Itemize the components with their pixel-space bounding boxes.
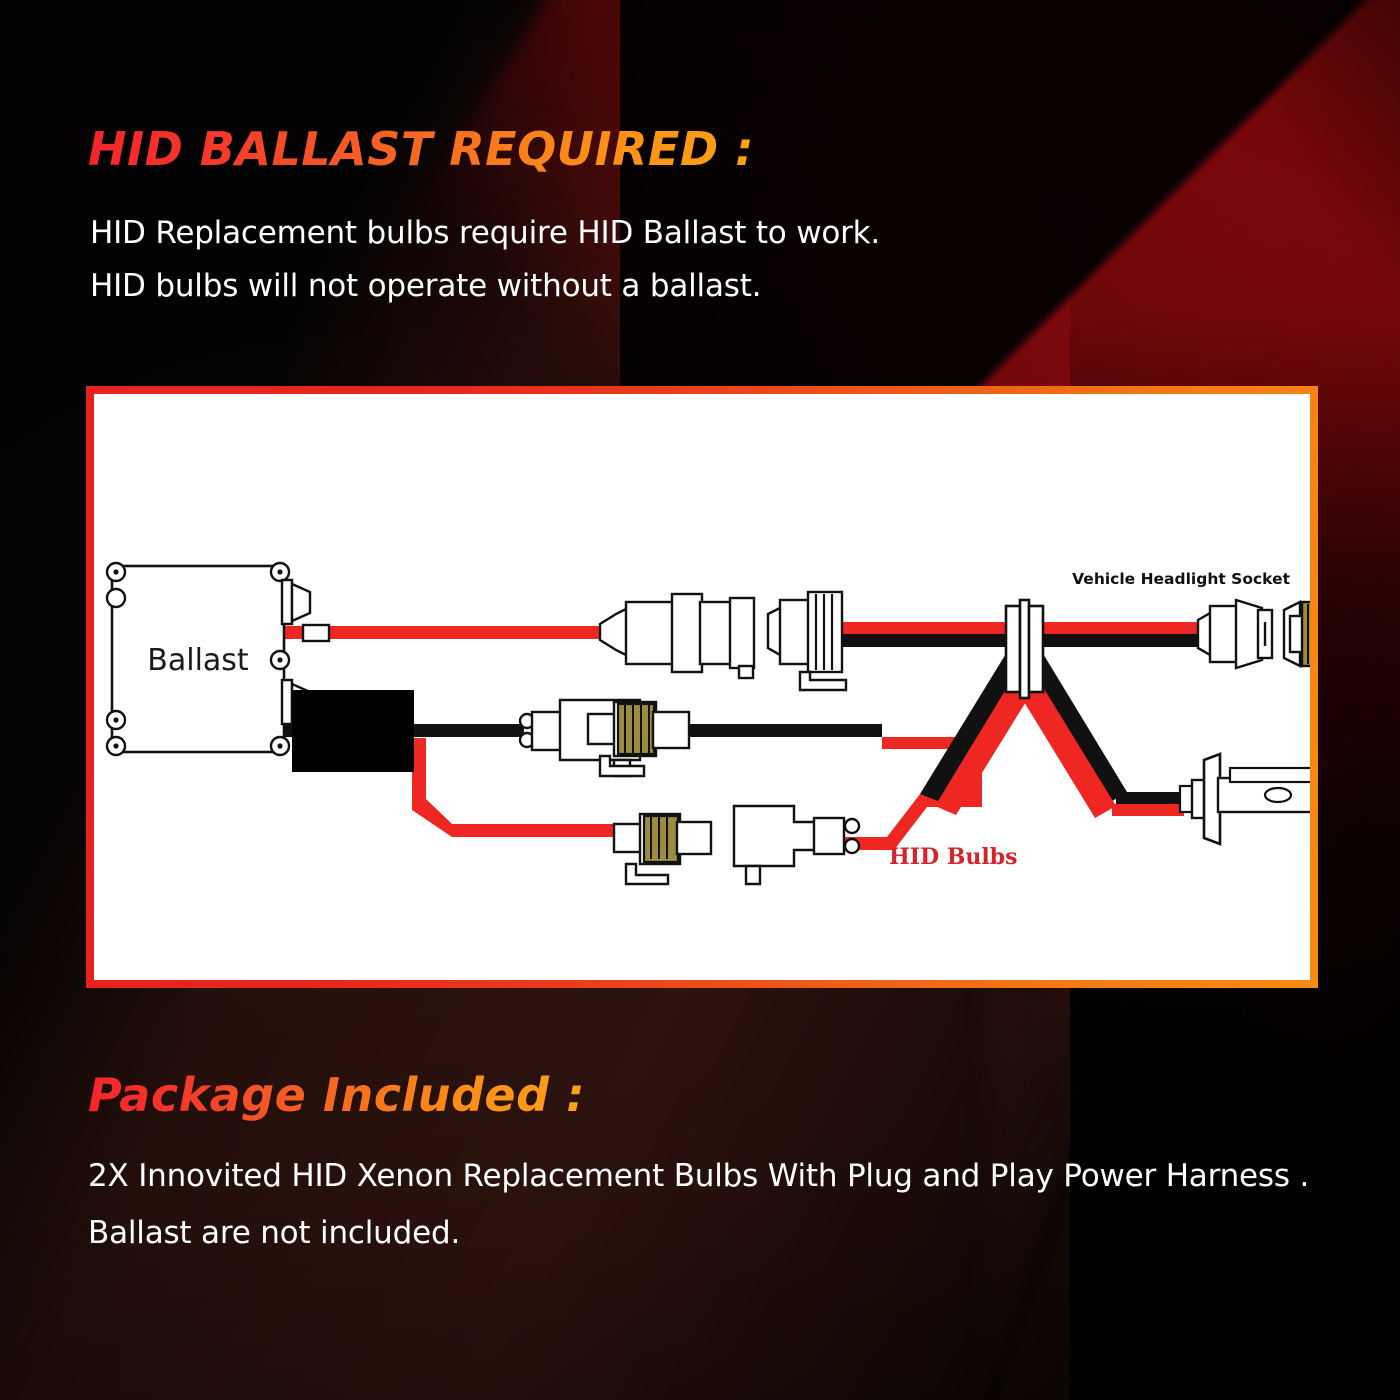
wire-black-module-out <box>412 724 524 737</box>
upper-female-connector <box>768 592 846 690</box>
y-splitter-collar <box>1006 600 1043 698</box>
product-infographic: HID BALLAST REQUIRED : HID Replacement b… <box>0 0 1400 1400</box>
package-included-heading: Package Included : <box>88 1068 585 1122</box>
wire-red-upper-right <box>1040 622 1200 634</box>
hid-bulbs-label: HID Bulbs <box>889 844 1018 870</box>
ballast-label: Ballast <box>147 643 249 678</box>
connector-taper <box>600 608 628 656</box>
wire-red-to-bulb <box>1112 804 1184 816</box>
ballast-outlet-lower-base <box>282 680 292 724</box>
package-included-line-1: 2X Innovited HID Xenon Replacement Bulbs… <box>88 1158 1309 1194</box>
lower-bullet-connector-2 <box>614 814 711 884</box>
connector-latch-tab <box>800 672 846 690</box>
background-dark-streak-a <box>920 1092 1104 1400</box>
ballast-required-line-2: HID bulbs will not operate without a bal… <box>90 268 761 304</box>
vehicle-headlight-socket <box>1284 586 1310 682</box>
wire-black-to-bulb <box>1116 792 1184 804</box>
ballast-outlet-upper-neck <box>303 625 329 641</box>
package-included-line-2: Ballast are not included. <box>88 1215 460 1251</box>
ballast-outlet-upper-boot <box>292 584 310 621</box>
headlight-plug-male <box>1198 600 1272 668</box>
upper-male-connector <box>600 594 754 678</box>
ballast-required-heading: HID BALLAST REQUIRED : <box>88 122 754 176</box>
wire-black-upper-right <box>1040 634 1200 647</box>
lower-bullet-connector-1 <box>588 702 689 776</box>
inline-module <box>292 690 414 772</box>
ballast-outlet-upper-base <box>282 580 292 624</box>
hid-bulb <box>1180 754 1310 844</box>
lower-spade-connector-2 <box>734 806 859 884</box>
ballast-screw-tl2 <box>107 589 125 607</box>
bulb-arc-chamber <box>1265 788 1291 802</box>
ballast-required-line-1: HID Replacement bulbs require HID Ballas… <box>90 215 880 251</box>
background-dark-streak-b <box>990 990 1250 1400</box>
vehicle-headlight-socket-label: Vehicle Headlight Socket <box>1072 570 1290 588</box>
wiring-diagram-illustration: Ballast <box>94 394 1310 980</box>
wiring-diagram-canvas: Ballast <box>94 394 1310 980</box>
wiring-diagram-frame: Ballast <box>86 386 1318 988</box>
